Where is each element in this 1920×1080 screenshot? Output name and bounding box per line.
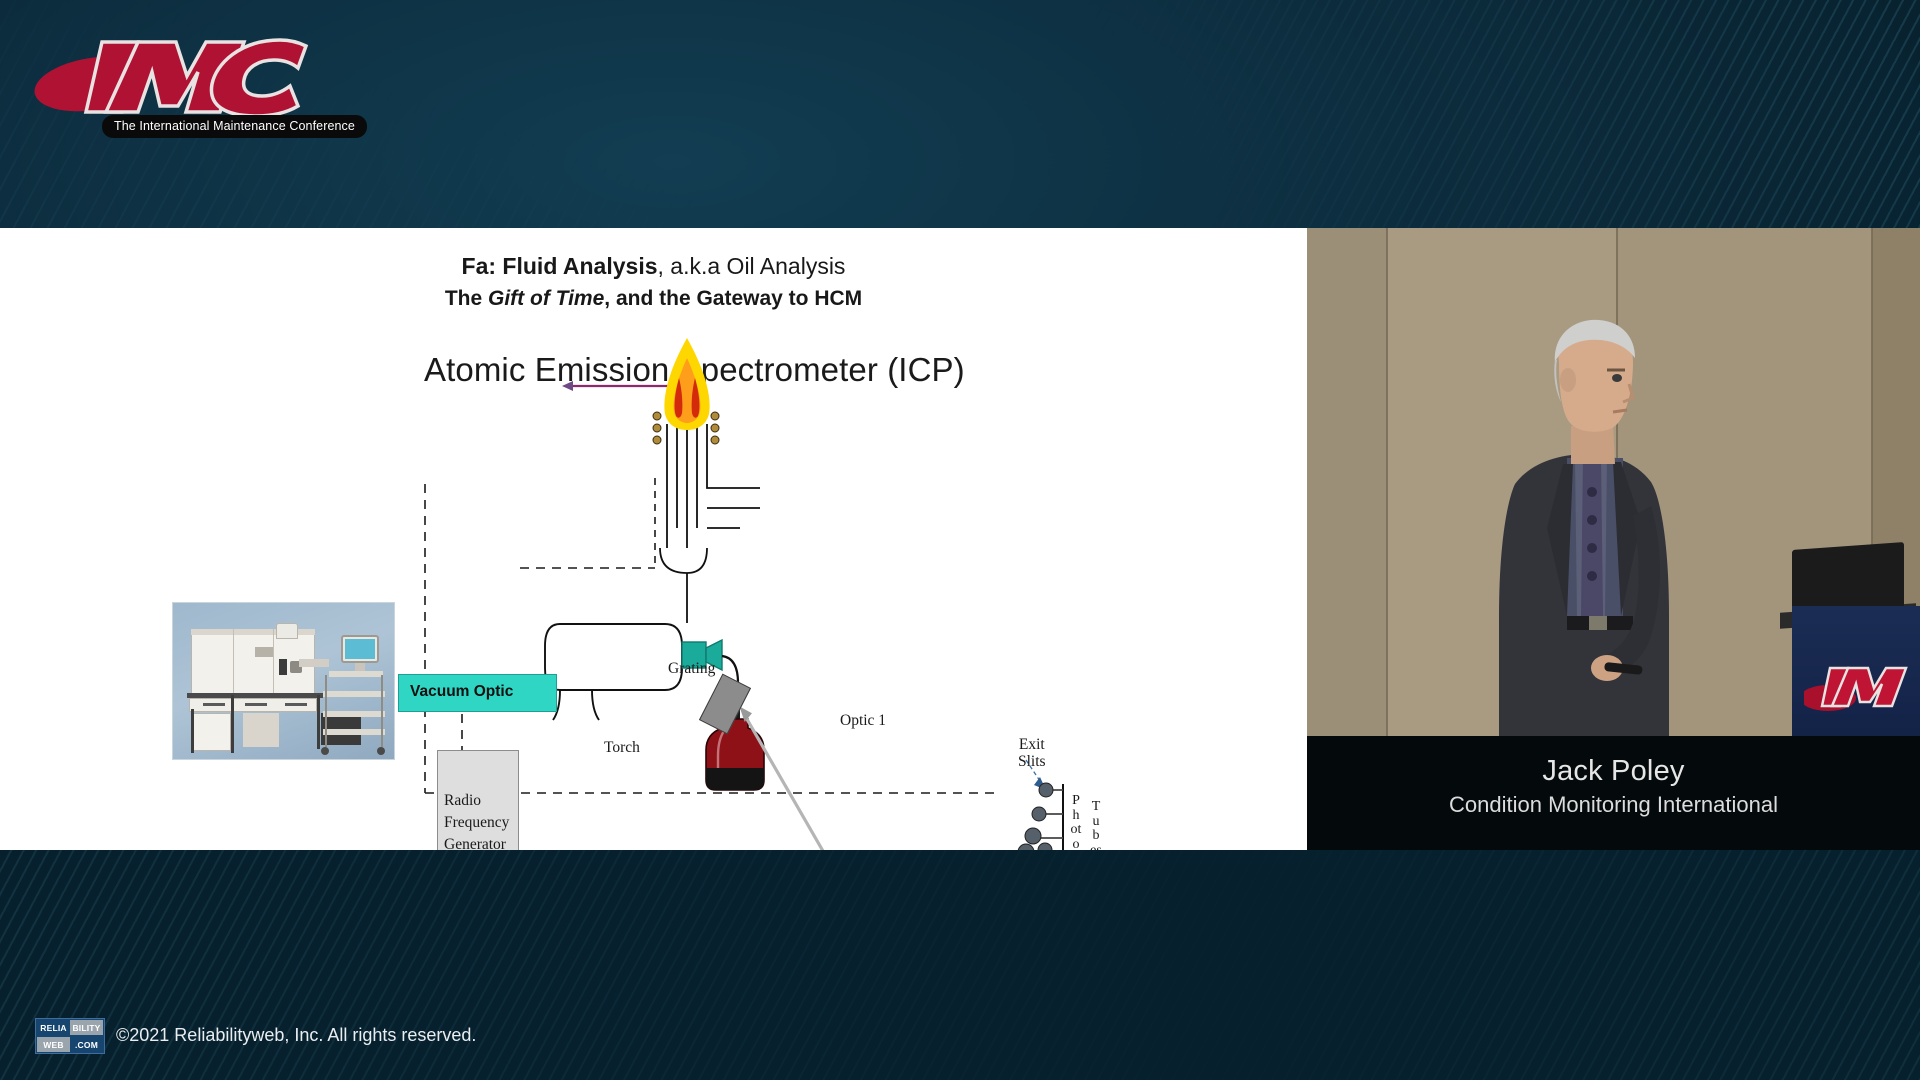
logo-bility-chip: BILITY	[70, 1020, 103, 1035]
photomultiplier-text: Photomultiplier	[1071, 793, 1082, 850]
radio-frequency-generator-label: Radio Frequency Generator	[444, 790, 516, 850]
logo-relia-chip: RELIA	[37, 1020, 70, 1035]
reliabilityweb-logo: RELIA BILITY WEB .COM	[35, 1018, 105, 1054]
imc-tagline: The International Maintenance Conference	[102, 115, 367, 138]
photomultiplier-label: Photomultiplier	[1070, 794, 1082, 850]
background-diagonal-lines-top-right	[920, 0, 1920, 230]
imc-logo: The International Maintenance Conference	[30, 20, 330, 135]
emission-arrow	[562, 381, 672, 391]
speaker-figure	[1455, 316, 1715, 736]
exit-slits-label: Exit Slits	[1018, 736, 1046, 770]
plasma-flame	[664, 338, 709, 430]
sample-introduction-chamber	[545, 624, 682, 720]
copyright-text: ©2021 Reliabilityweb, Inc. All rights re…	[116, 1025, 476, 1046]
podium-imc-logo	[1804, 658, 1920, 718]
speaker-video-panel[interactable]: Jack Poley Condition Monitoring Internat…	[1307, 228, 1920, 850]
vacuum-optic-label: Vacuum Optic	[410, 683, 513, 701]
speaker-nameplate: Jack Poley Condition Monitoring Internat…	[1307, 736, 1920, 850]
optic-1-label: Optic 1	[840, 712, 886, 729]
tubes-text: Tubes	[1090, 799, 1102, 850]
logo-web-chip: WEB	[37, 1037, 70, 1052]
photomultiplier-spine	[1057, 784, 1069, 850]
torch-label: Torch	[604, 739, 640, 756]
grating-label: Grating	[668, 660, 715, 677]
speaker-organization: Condition Monitoring International	[1307, 792, 1920, 818]
video-feed[interactable]	[1307, 228, 1920, 736]
torch-tubes	[660, 418, 760, 623]
slide-panel: Fa: Fluid Analysis, a.k.a Oil Analysis T…	[0, 228, 1307, 850]
icp-schematic-diagram	[0, 228, 1307, 850]
tubes-label: Tubes	[1090, 800, 1102, 850]
logo-com-chip: .COM	[70, 1037, 103, 1052]
speaker-name: Jack Poley	[1307, 755, 1920, 788]
podium	[1792, 606, 1920, 736]
